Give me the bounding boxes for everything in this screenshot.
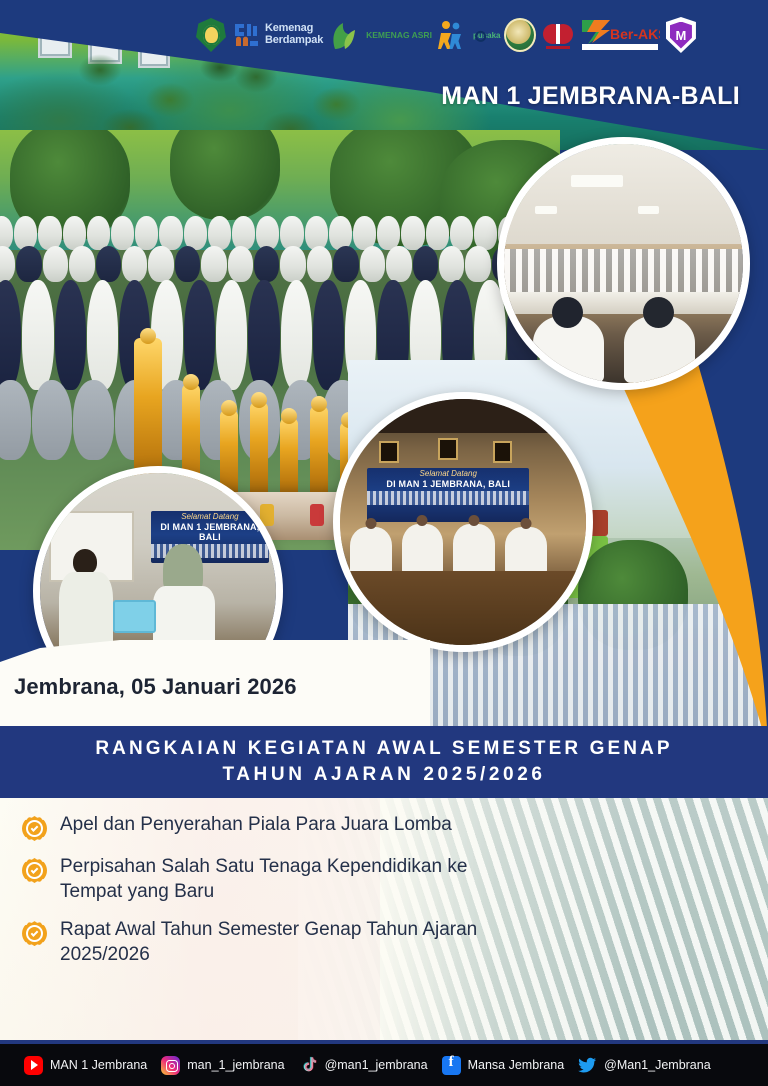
kemenag-berdampak-logo: Kemenag Berdampak — [232, 15, 323, 55]
facebook-handle: Mansa Jembrana — [468, 1058, 565, 1072]
asri-leaf-hand-icon — [329, 19, 363, 51]
photo-panelist — [505, 527, 547, 574]
welcome-banner-line2: DI MAN 1 JEMBRANA, BALI — [151, 522, 269, 542]
list-item: Apel dan Penyerahan Piala Para Juara Lom… — [22, 812, 492, 841]
photo-wall-portrait — [379, 441, 399, 463]
activity-text: Rapat Awal Tahun Semester Genap Tahun Aj… — [60, 917, 490, 967]
photo-tree — [170, 130, 280, 220]
kemenag-crest-logo — [196, 15, 226, 55]
photo-panelist — [350, 527, 392, 574]
photo-wall-portrait — [438, 438, 458, 460]
activity-text: Perpisahan Salah Satu Tenaga Kependidika… — [60, 854, 490, 904]
photo-panelist — [453, 524, 495, 573]
pusaka-logo: pusaka — [470, 18, 498, 52]
headline-line1: RANGKAIAN KEGIATAN AWAL SEMESTER GENAP — [95, 738, 672, 760]
photo-student-row-back — [0, 216, 560, 250]
list-item: Rapat Awal Tahun Semester Genap Tahun Aj… — [22, 917, 492, 967]
photo-ceiling-dark — [340, 399, 586, 433]
photo-person-songkok — [73, 549, 97, 575]
check-badge-icon — [22, 816, 47, 841]
tiktok-handle: @man1_jembrana — [325, 1058, 428, 1072]
event-date: Jembrana, 05 Januari 2026 — [14, 674, 297, 700]
photo-panel-table — [340, 571, 586, 645]
shield-icon: M — [666, 17, 696, 53]
youtube-handle: MAN 1 Jembrana — [50, 1058, 147, 1072]
poster-canvas: Kemenag Berdampak KEMENAG ASRI — [0, 0, 768, 1086]
shield-letter: M — [676, 29, 687, 42]
photo-wall-portrait — [493, 441, 513, 463]
kemenag-berdampak-mark — [232, 20, 262, 50]
photo-person-head — [552, 297, 583, 328]
photo-panelist — [402, 524, 444, 573]
facebook-icon[interactable] — [442, 1056, 461, 1075]
welcome-banner-line2: DI MAN 1 JEMBRANA, BALI — [367, 479, 529, 489]
activities-list: Apel dan Penyerahan Piala Para Juara Lom… — [22, 812, 492, 980]
photo-ceiling-light — [571, 175, 624, 187]
headline-line2: TAHUN AJARAN 2025/2026 — [222, 764, 545, 786]
photo-desks — [504, 292, 743, 314]
bermutu-logo — [438, 15, 464, 55]
tiktok-icon[interactable] — [299, 1056, 318, 1075]
photo-ceiling — [504, 144, 743, 244]
bermutu-people-icon — [438, 19, 464, 51]
photo-seated-audience — [504, 249, 743, 292]
welcome-banner-line1: Selamat Datang — [367, 468, 529, 479]
social-twitter[interactable]: @Man1_Jembrana — [578, 1056, 711, 1075]
social-youtube[interactable]: MAN 1 Jembrana — [24, 1056, 147, 1075]
madrasah-shield-logo: M — [666, 15, 696, 55]
photo-ceiling-light — [535, 206, 557, 214]
twitter-handle: @Man1_Jembrana — [604, 1058, 711, 1072]
welcome-banner-photo-strip — [367, 491, 529, 505]
panel-photo-inner: Selamat Datang DI MAN 1 JEMBRANA, BALI — [340, 399, 586, 645]
headline-banner: RANGKAIAN KEGIATAN AWAL SEMESTER GENAP T… — [0, 726, 768, 798]
kemenag-berdampak-line2: Berdampak — [265, 35, 323, 47]
instagram-icon[interactable] — [161, 1056, 180, 1075]
social-tiktok[interactable]: @man1_jembrana — [299, 1056, 428, 1075]
list-item: Perpisahan Salah Satu Tenaga Kependidika… — [22, 854, 492, 904]
pemkab-jembrana-logo — [504, 15, 536, 55]
kemenag-berdampak-label: Kemenag Berdampak — [265, 23, 323, 46]
instagram-handle: man_1_jembrana — [187, 1058, 284, 1072]
pusaka-droplet-icon — [469, 25, 471, 46]
activity-text: Apel dan Penyerahan Piala Para Juara Lom… — [60, 812, 452, 837]
hall-photo-inner — [504, 144, 743, 383]
svg-text:Ber-AKSI: Ber-AKSI — [610, 26, 660, 42]
check-badge-icon — [22, 921, 47, 946]
circular-photo-assembly-hall — [497, 137, 750, 390]
pemkab-seal-icon — [504, 18, 536, 52]
trophy — [310, 406, 328, 506]
activities-panel: Apel dan Penyerahan Piala Para Juara Lom… — [0, 798, 768, 1040]
check-badge-icon — [22, 858, 47, 883]
youtube-icon[interactable] — [24, 1056, 43, 1075]
social-instagram[interactable]: man_1_jembrana — [161, 1056, 284, 1075]
partner-logo-row: Kemenag Berdampak KEMENAG ASRI — [196, 12, 762, 58]
social-footer-bar: MAN 1 Jembrana man_1_jembrana @man1_jemb… — [0, 1040, 768, 1086]
photo-student-row-mid — [0, 246, 560, 282]
ber-aksi-logo: Ber-AKSI — [580, 15, 660, 55]
kemenag-asri-logo: KEMENAG ASRI — [329, 15, 432, 55]
kab-jembrana-logo — [542, 15, 574, 55]
welcome-banner-line1: Selamat Datang — [151, 511, 269, 522]
social-facebook[interactable]: Mansa Jembrana — [442, 1056, 565, 1075]
twitter-icon[interactable] — [578, 1056, 597, 1075]
ber-aksi-mark: Ber-AKSI — [580, 18, 660, 52]
page-title: MAN 1 JEMBRANA-BALI — [441, 82, 740, 111]
welcome-banner: Selamat Datang DI MAN 1 JEMBRANA, BALI — [367, 468, 529, 522]
circular-photo-leadership-panel: Selamat Datang DI MAN 1 JEMBRANA, BALI — [333, 392, 593, 652]
photo-person-head — [643, 297, 674, 328]
photo-ceiling-light — [638, 206, 660, 214]
kab-circle-icon — [542, 19, 574, 51]
kemenag-asri-label: KEMENAG ASRI — [366, 31, 432, 40]
photo-gift-box — [113, 600, 155, 633]
